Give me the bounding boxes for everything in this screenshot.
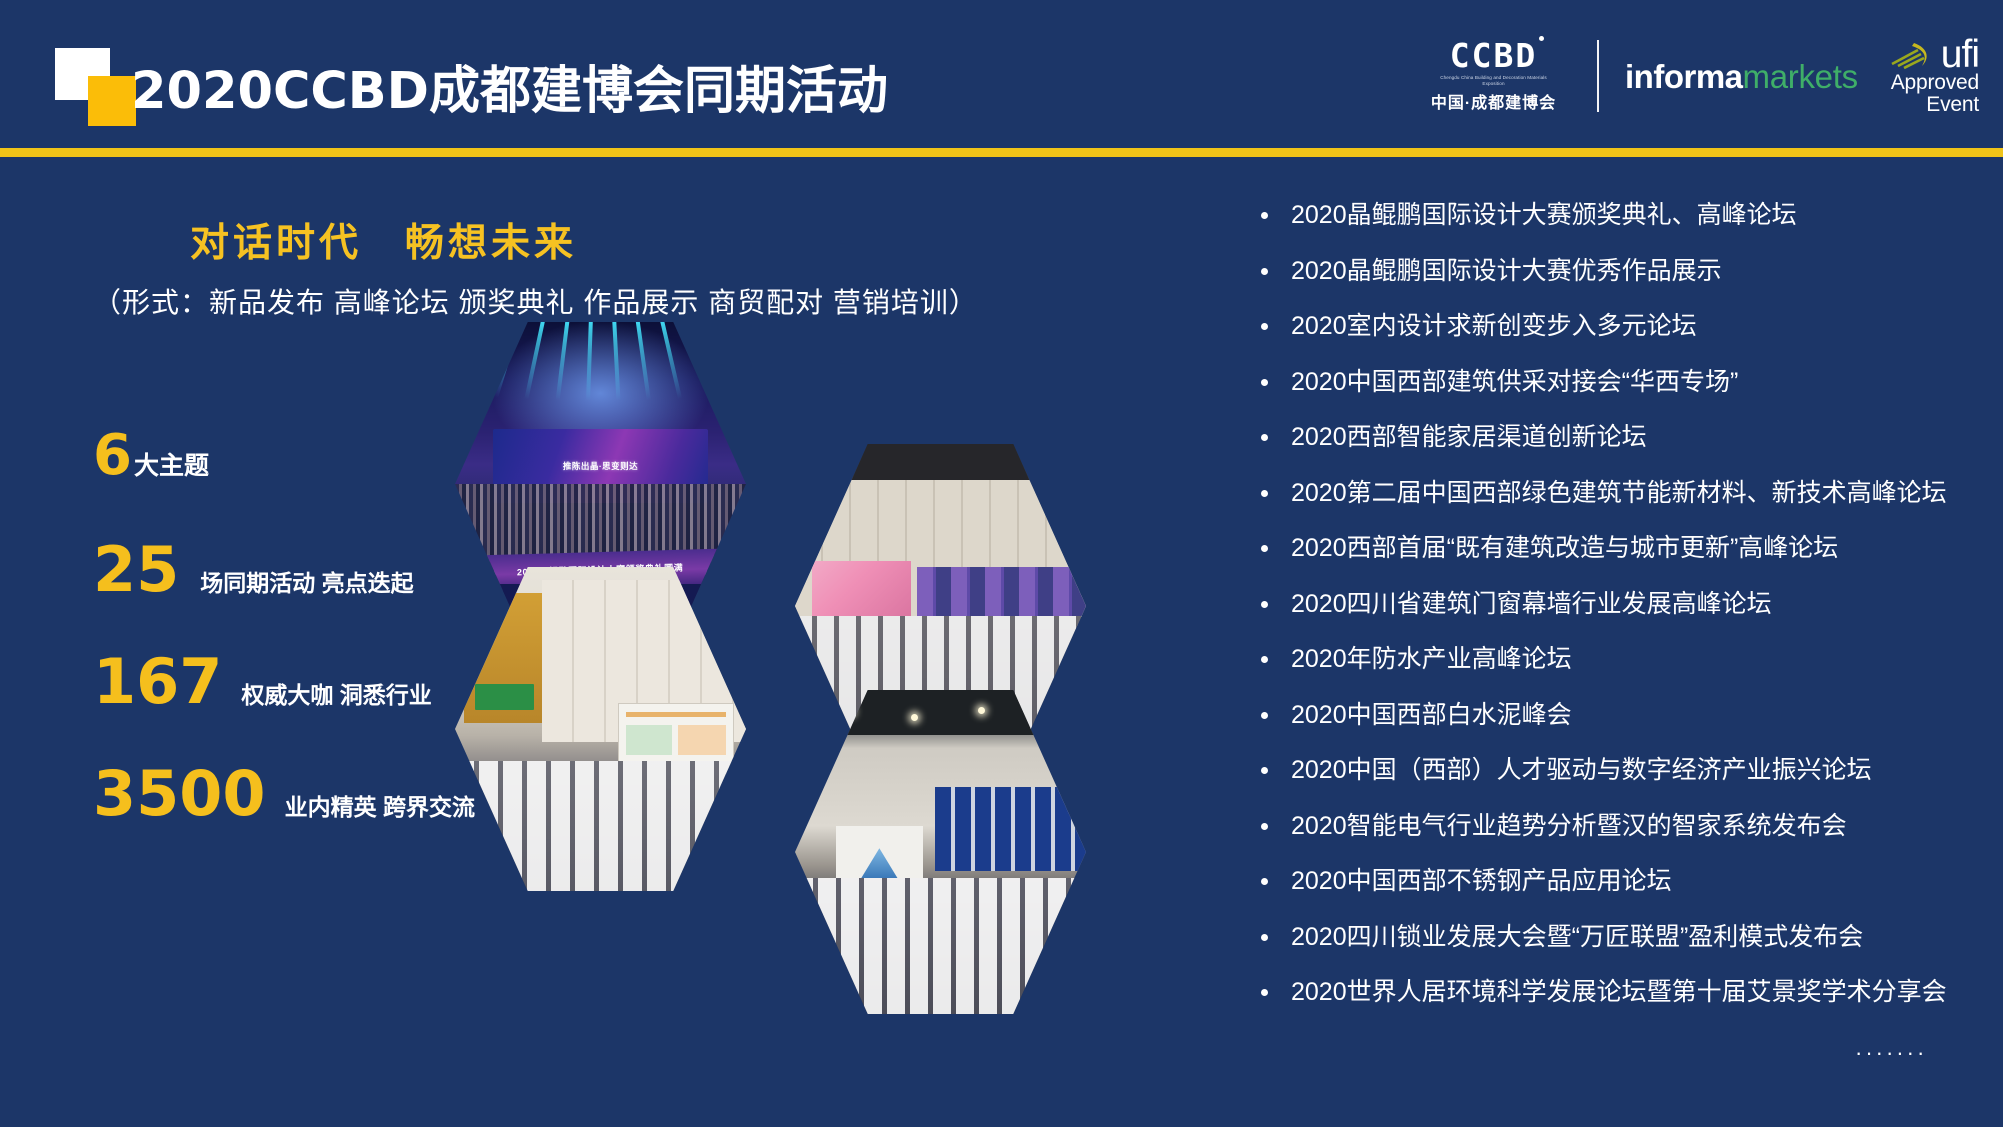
stat-label: 权威大咖 洞悉行业 [241, 676, 431, 710]
bullet-icon [1261, 656, 1268, 663]
bullet-icon [1261, 712, 1268, 719]
section-headline: 对话时代 畅想未来 [190, 212, 577, 268]
event-list-item[interactable]: 2020中国（西部）人才驱动与数字经济产业振兴论坛 [1253, 758, 1953, 814]
informa-markets-logo: informamarkets [1625, 60, 1858, 93]
hall-ceiling [795, 444, 1086, 480]
bullet-icon [1261, 212, 1268, 219]
event-list: 2020晶鲲鹏国际设计大赛颁奖典礼、高峰论坛 2020晶鲲鹏国际设计大赛优秀作品… [1253, 203, 1953, 1036]
bullet-icon [1261, 379, 1268, 386]
ufi-event-label: Event [1926, 94, 1979, 115]
event-label: 2020中国西部不锈钢产品应用论坛 [1291, 867, 1672, 895]
event-list-item[interactable]: 2020晶鲲鹏国际设计大赛优秀作品展示 [1253, 259, 1953, 315]
event-label: 2020晶鲲鹏国际设计大赛优秀作品展示 [1291, 257, 1722, 285]
slide-header: 2020CCBD成都建博会同期活动 CCBD Chengdu China Bui… [0, 0, 2003, 150]
event-label: 2020中国西部建筑供采对接会“华西专场” [1291, 368, 1738, 396]
ufi-swoosh-icon [1888, 40, 1940, 70]
logo-separator [1597, 40, 1599, 112]
event-label: 2020中国西部白水泥峰会 [1291, 701, 1572, 729]
ccbd-logo: CCBD Chengdu China Building and Decorati… [1416, 39, 1571, 113]
photo-hexagon-conference-hall: CCBD [795, 690, 1086, 1014]
event-label: 2020西部首届“既有建筑改造与城市更新”高峰论坛 [1291, 534, 1838, 562]
list-continuation-ellipsis: ······· [1855, 1040, 1927, 1066]
event-list-item[interactable]: 2020中国西部白水泥峰会 [1253, 703, 1953, 759]
decoration-square-yellow [88, 76, 136, 126]
photo-watermark: CCBD [1036, 977, 1069, 991]
bullet-icon [1261, 323, 1268, 330]
event-list-item[interactable]: 2020中国西部建筑供采对接会“华西专场” [1253, 370, 1953, 426]
event-list-item[interactable]: 2020室内设计求新创变步入多元论坛 [1253, 314, 1953, 370]
header-decoration [55, 48, 141, 126]
ufi-wordmark: ufi [1941, 37, 1979, 72]
ccbd-subtitle-cn: 中国·成都建博会 [1431, 89, 1556, 113]
stat-item: 3500 业内精英 跨界交流 [93, 763, 475, 825]
stat-number: 167 [93, 651, 222, 713]
event-label: 2020年防水产业高峰论坛 [1291, 645, 1572, 673]
event-list-item[interactable]: 2020四川锁业发展大会暨“万匠联盟”盈利模式发布会 [1253, 925, 1953, 981]
event-label: 2020晶鲲鹏国际设计大赛颁奖典礼、高峰论坛 [1291, 201, 1797, 229]
event-label: 2020室内设计求新创变步入多元论坛 [1291, 312, 1697, 340]
event-list-item[interactable]: 2020四川省建筑门窗幕墙行业发展高峰论坛 [1253, 592, 1953, 648]
header-divider-line [0, 148, 2003, 157]
stat-number: 6 [93, 428, 132, 484]
event-list-item[interactable]: 2020西部首届“既有建筑改造与城市更新”高峰论坛 [1253, 536, 1953, 592]
stat-label: 大主题 [134, 446, 209, 482]
stat-label: 业内精英 跨界交流 [285, 788, 475, 822]
conference-blue-banners [935, 787, 1086, 871]
formats-subtitle: （形式：新品发布 高峰论坛 颁奖典礼 作品展示 商贸配对 营销培训） [93, 281, 978, 321]
bullet-icon [1261, 601, 1268, 608]
bullet-icon [1261, 934, 1268, 941]
photo-collage: 推陈出晶·思变则达 2020晶鲲鹏国际设计大赛颁奖典礼圆满 CCBD CCBD [455, 322, 1095, 1112]
event-list-item[interactable]: 2020第二届中国西部绿色建筑节能新材料、新技术高峰论坛 [1253, 481, 1953, 537]
bullet-icon [1261, 434, 1268, 441]
bullet-icon [1261, 268, 1268, 275]
event-label: 2020中国（西部）人才驱动与数字经济产业振兴论坛 [1291, 756, 1872, 784]
photo-hexagon-seminar-hall: CCBD [455, 567, 746, 891]
conference-audience [795, 878, 1086, 1014]
markets-word: markets [1743, 58, 1858, 95]
stat-label: 场同期活动 亮点迭起 [200, 564, 413, 598]
event-list-item[interactable]: 2020智能电气行业趋势分析暨汉的智家系统发布会 [1253, 814, 1953, 870]
event-list-item[interactable]: 2020世界人居环境科学发展论坛暨第十届艾景奖学术分享会 [1253, 980, 1953, 1036]
stat-item: 6 大主题 [93, 428, 209, 484]
event-list-item[interactable]: 2020中国西部不锈钢产品应用论坛 [1253, 869, 1953, 925]
event-list-item[interactable]: 2020年防水产业高峰论坛 [1253, 647, 1953, 703]
page-title: 2020CCBD成都建博会同期活动 [131, 49, 888, 123]
ccbd-wordmark-text: CCBD [1450, 39, 1537, 72]
ccbd-subtitle-en: Chengdu China Building and Decoration Ma… [1429, 75, 1559, 87]
ufi-approved-event-logo: ufi Approved Event [1888, 37, 1979, 115]
event-label: 2020西部智能家居渠道创新论坛 [1291, 423, 1647, 451]
stat-number: 3500 [93, 763, 266, 825]
informa-word: informa [1625, 58, 1743, 95]
bullet-icon [1261, 878, 1268, 885]
bullet-icon [1261, 490, 1268, 497]
event-label: 2020第二届中国西部绿色建筑节能新材料、新技术高峰论坛 [1291, 479, 1947, 507]
stage-screen-text: 推陈出晶·思变则达 [563, 460, 638, 472]
event-label: 2020四川锁业发展大会暨“万匠联盟”盈利模式发布会 [1291, 923, 1863, 951]
event-label: 2020四川省建筑门窗幕墙行业发展高峰论坛 [1291, 590, 1772, 618]
event-list-item[interactable]: 2020西部智能家居渠道创新论坛 [1253, 425, 1953, 481]
exit-sign [475, 684, 533, 710]
ufi-approved-label: Approved [1891, 72, 1979, 93]
seminar-audience [455, 761, 746, 891]
logo-strip: CCBD Chengdu China Building and Decorati… [1416, 28, 1979, 124]
bullet-icon [1261, 767, 1268, 774]
photo-watermark: CCBD [1036, 731, 1069, 745]
bullet-icon [1261, 989, 1268, 996]
event-label: 2020世界人居环境科学发展论坛暨第十届艾景奖学术分享会 [1291, 978, 1947, 1006]
stat-item: 167 权威大咖 洞悉行业 [93, 651, 432, 713]
event-label: 2020智能电气行业趋势分析暨汉的智家系统发布会 [1291, 812, 1847, 840]
stat-number: 25 [93, 539, 179, 601]
stat-item: 25 场同期活动 亮点迭起 [93, 539, 414, 601]
bullet-icon [1261, 545, 1268, 552]
photo-watermark: CCBD [696, 854, 729, 868]
bullet-icon [1261, 823, 1268, 830]
event-list-item[interactable]: 2020晶鲲鹏国际设计大赛颁奖典礼、高峰论坛 [1253, 203, 1953, 259]
photo-watermark: CCBD [696, 609, 729, 623]
